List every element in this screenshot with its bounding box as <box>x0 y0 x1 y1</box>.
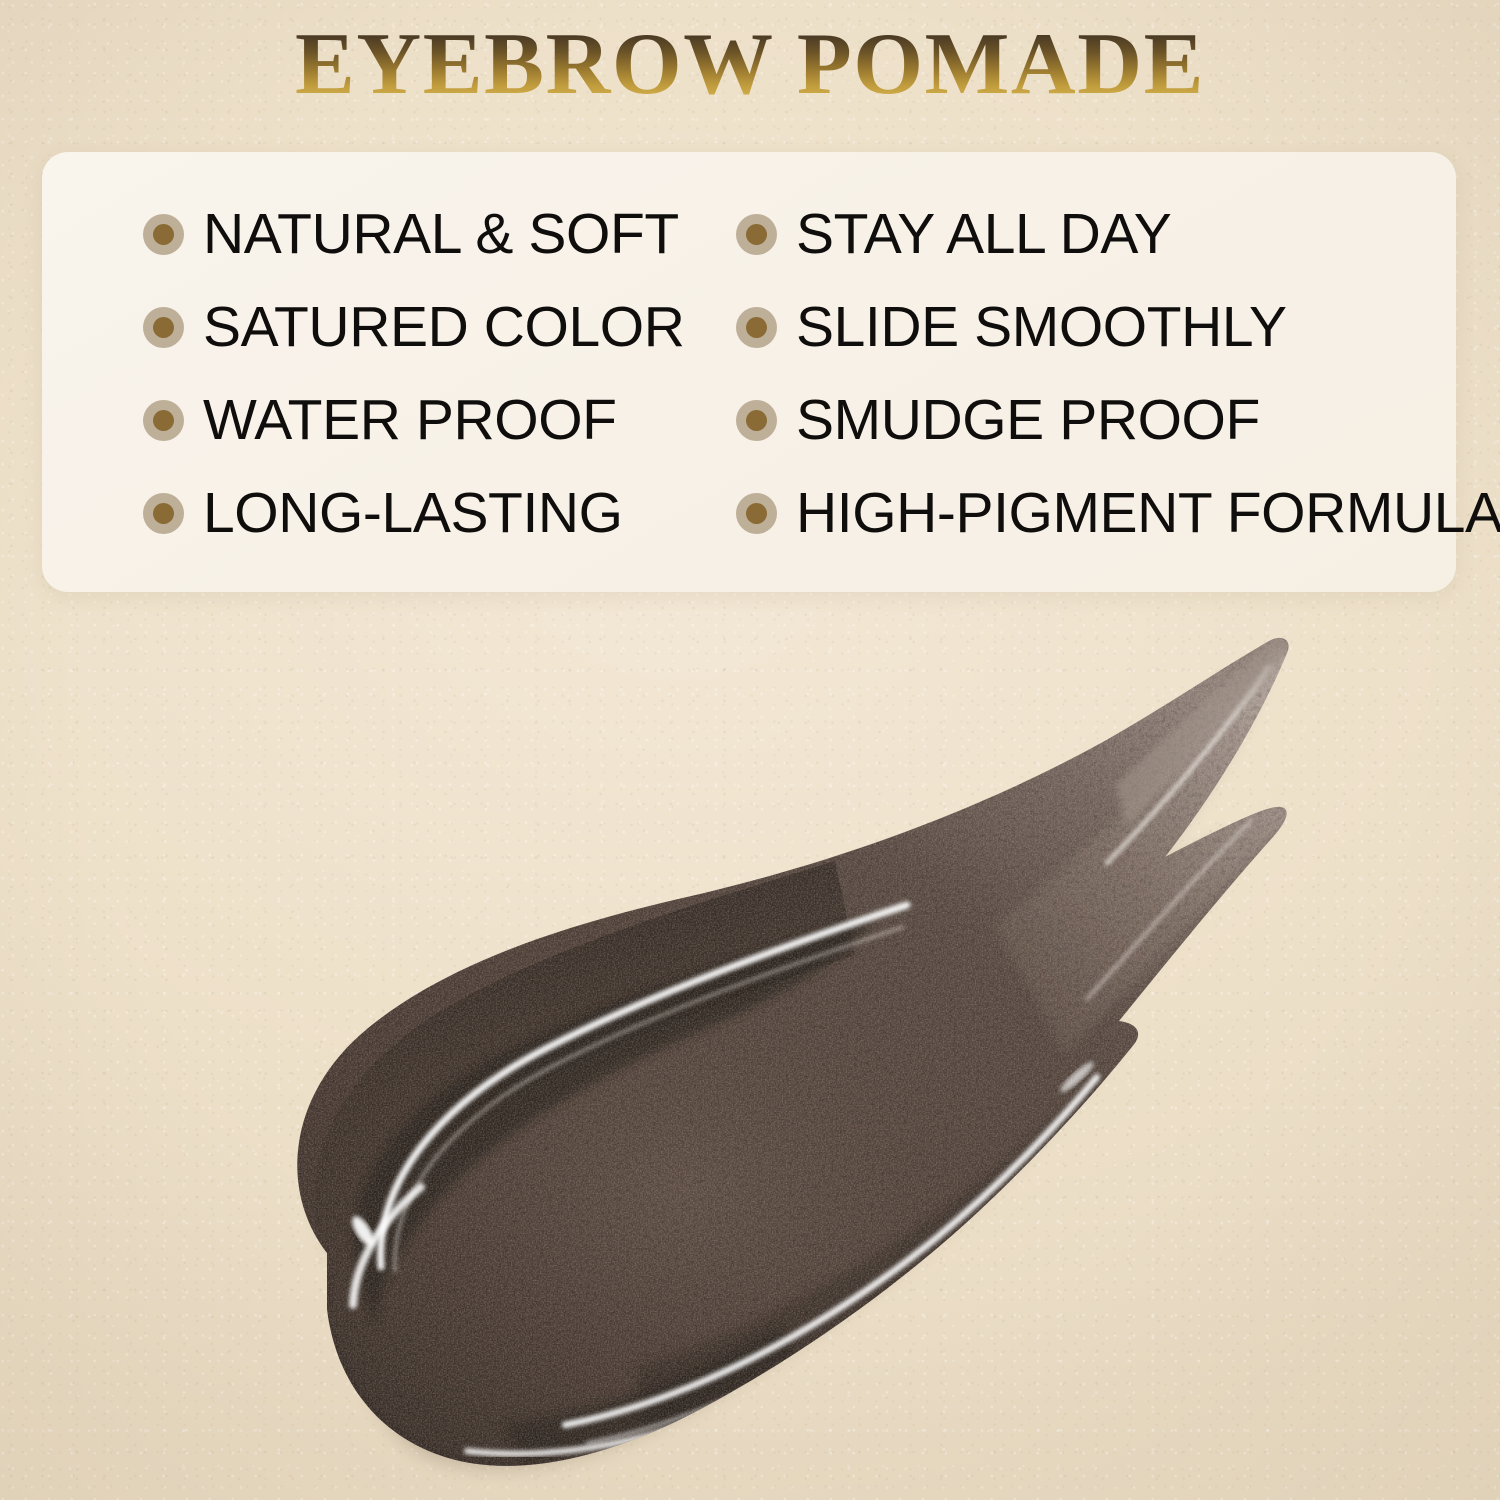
feature-label: STAY ALL DAY <box>796 206 1171 263</box>
bullet-icon <box>143 493 184 534</box>
feature-item-satured-color: SATURED COLOR <box>42 281 735 374</box>
feature-item-stay-all-day: STAY ALL DAY <box>735 188 1456 281</box>
product-swatch <box>235 625 1355 1485</box>
feature-item-slide-smoothly: SLIDE SMOOTHLY <box>735 281 1456 374</box>
feature-label: SMUDGE PROOF <box>796 392 1260 449</box>
page-title: EYEBROW POMADE <box>0 21 1500 109</box>
bullet-icon <box>143 400 184 441</box>
feature-item-smudge-proof: SMUDGE PROOF <box>735 374 1456 467</box>
feature-label: LONG-LASTING <box>203 485 623 542</box>
feature-item-water-proof: WATER PROOF <box>42 374 735 467</box>
feature-label: SATURED COLOR <box>203 299 684 356</box>
bullet-icon <box>736 400 777 441</box>
feature-label: WATER PROOF <box>203 392 617 449</box>
bullet-icon <box>143 214 184 255</box>
feature-panel: NATURAL & SOFT STAY ALL DAY SATURED COLO… <box>42 152 1456 592</box>
bullet-icon <box>736 493 777 534</box>
pomade-smear-svg <box>235 625 1355 1485</box>
feature-label: SLIDE SMOOTHLY <box>796 299 1287 356</box>
bullet-icon <box>736 307 777 348</box>
pomade-smear-image <box>235 625 1355 1485</box>
feature-label: NATURAL & SOFT <box>203 206 679 263</box>
feature-label: HIGH-PIGMENT FORMULA <box>796 485 1500 542</box>
feature-grid: NATURAL & SOFT STAY ALL DAY SATURED COLO… <box>42 152 1456 592</box>
bullet-icon <box>143 307 184 348</box>
bullet-icon <box>736 214 777 255</box>
feature-item-long-lasting: LONG-LASTING <box>42 467 735 560</box>
feature-item-natural-and-soft: NATURAL & SOFT <box>42 188 735 281</box>
product-infographic: EYEBROW POMADE NATURAL & SOFT STAY ALL D… <box>0 0 1500 1500</box>
feature-item-high-pigment-formula: HIGH-PIGMENT FORMULA <box>735 467 1456 560</box>
